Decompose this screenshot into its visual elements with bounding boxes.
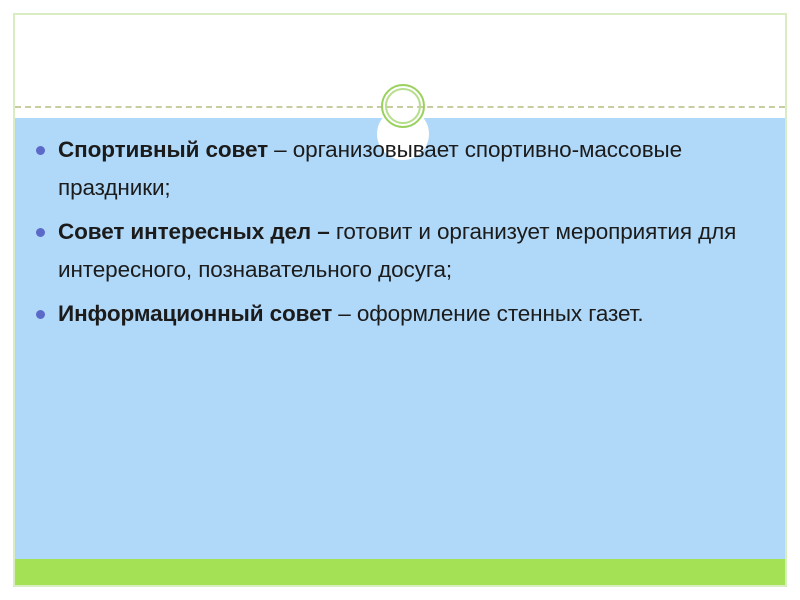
bullet-dot-icon bbox=[36, 310, 45, 319]
list-item-lead: Спортивный совет bbox=[58, 137, 268, 162]
bullet-list: Спортивный совет – организовывает спорти… bbox=[30, 131, 760, 339]
list-item: Совет интересных дел – готовит и организ… bbox=[30, 213, 760, 289]
list-item-lead: Информационный совет bbox=[58, 301, 332, 326]
slide-footer-bar bbox=[15, 559, 785, 586]
list-item: Информационный совет – оформление стенны… bbox=[30, 295, 760, 333]
bullet-dot-icon bbox=[36, 146, 45, 155]
list-item-rest: – оформление стенных газет. bbox=[332, 301, 643, 326]
presentation-slide: Спортивный совет – организовывает спорти… bbox=[0, 0, 800, 600]
list-item-lead: Совет интересных дел – bbox=[58, 219, 330, 244]
circle-ring-icon bbox=[381, 84, 425, 128]
list-item: Спортивный совет – организовывает спорти… bbox=[30, 131, 760, 207]
bullet-dot-icon bbox=[36, 228, 45, 237]
